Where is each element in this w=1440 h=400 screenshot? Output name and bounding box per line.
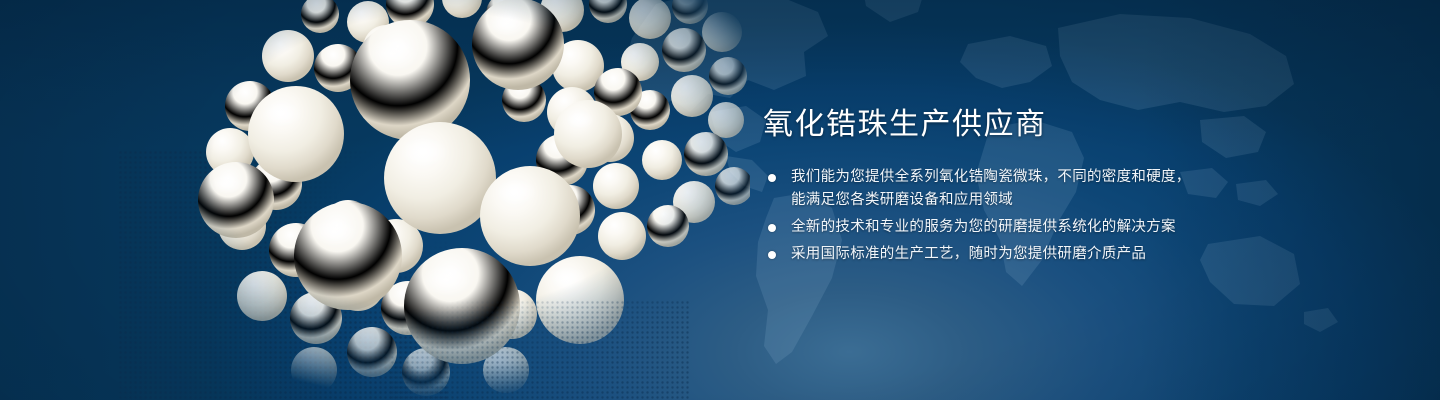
bullet-dot-icon bbox=[768, 251, 776, 259]
bullet-dot-icon bbox=[768, 174, 776, 182]
list-item: 我们能为您提供全系列氧化锆陶瓷微珠，不同的密度和硬度，能满足您各类研磨设备和应用… bbox=[763, 166, 1203, 212]
list-item: 采用国际标准的生产工艺，随时为您提供研磨介质产品 bbox=[763, 243, 1223, 266]
list-item-label: 采用国际标准的生产工艺，随时为您提供研磨介质产品 bbox=[791, 246, 1146, 262]
hero-banner: 氧化锆珠生产供应商 我们能为您提供全系列氧化锆陶瓷微珠，不同的密度和硬度，能满足… bbox=[0, 0, 1440, 400]
page-title: 氧化锆珠生产供应商 bbox=[763, 106, 1223, 144]
bullet-dot-icon bbox=[768, 224, 776, 232]
banner-content: 氧化锆珠生产供应商 我们能为您提供全系列氧化锆陶瓷微珠，不同的密度和硬度，能满足… bbox=[763, 106, 1223, 270]
list-item: 全新的技术和专业的服务为您的研磨提供系统化的解决方案 bbox=[763, 216, 1223, 239]
list-item-label: 全新的技术和专业的服务为您的研磨提供系统化的解决方案 bbox=[791, 219, 1176, 235]
list-item-label: 我们能为您提供全系列氧化锆陶瓷微珠，不同的密度和硬度，能满足您各类研磨设备和应用… bbox=[791, 169, 1191, 208]
feature-list: 我们能为您提供全系列氧化锆陶瓷微珠，不同的密度和硬度，能满足您各类研磨设备和应用… bbox=[763, 166, 1223, 266]
background-left-shade bbox=[0, 0, 220, 400]
